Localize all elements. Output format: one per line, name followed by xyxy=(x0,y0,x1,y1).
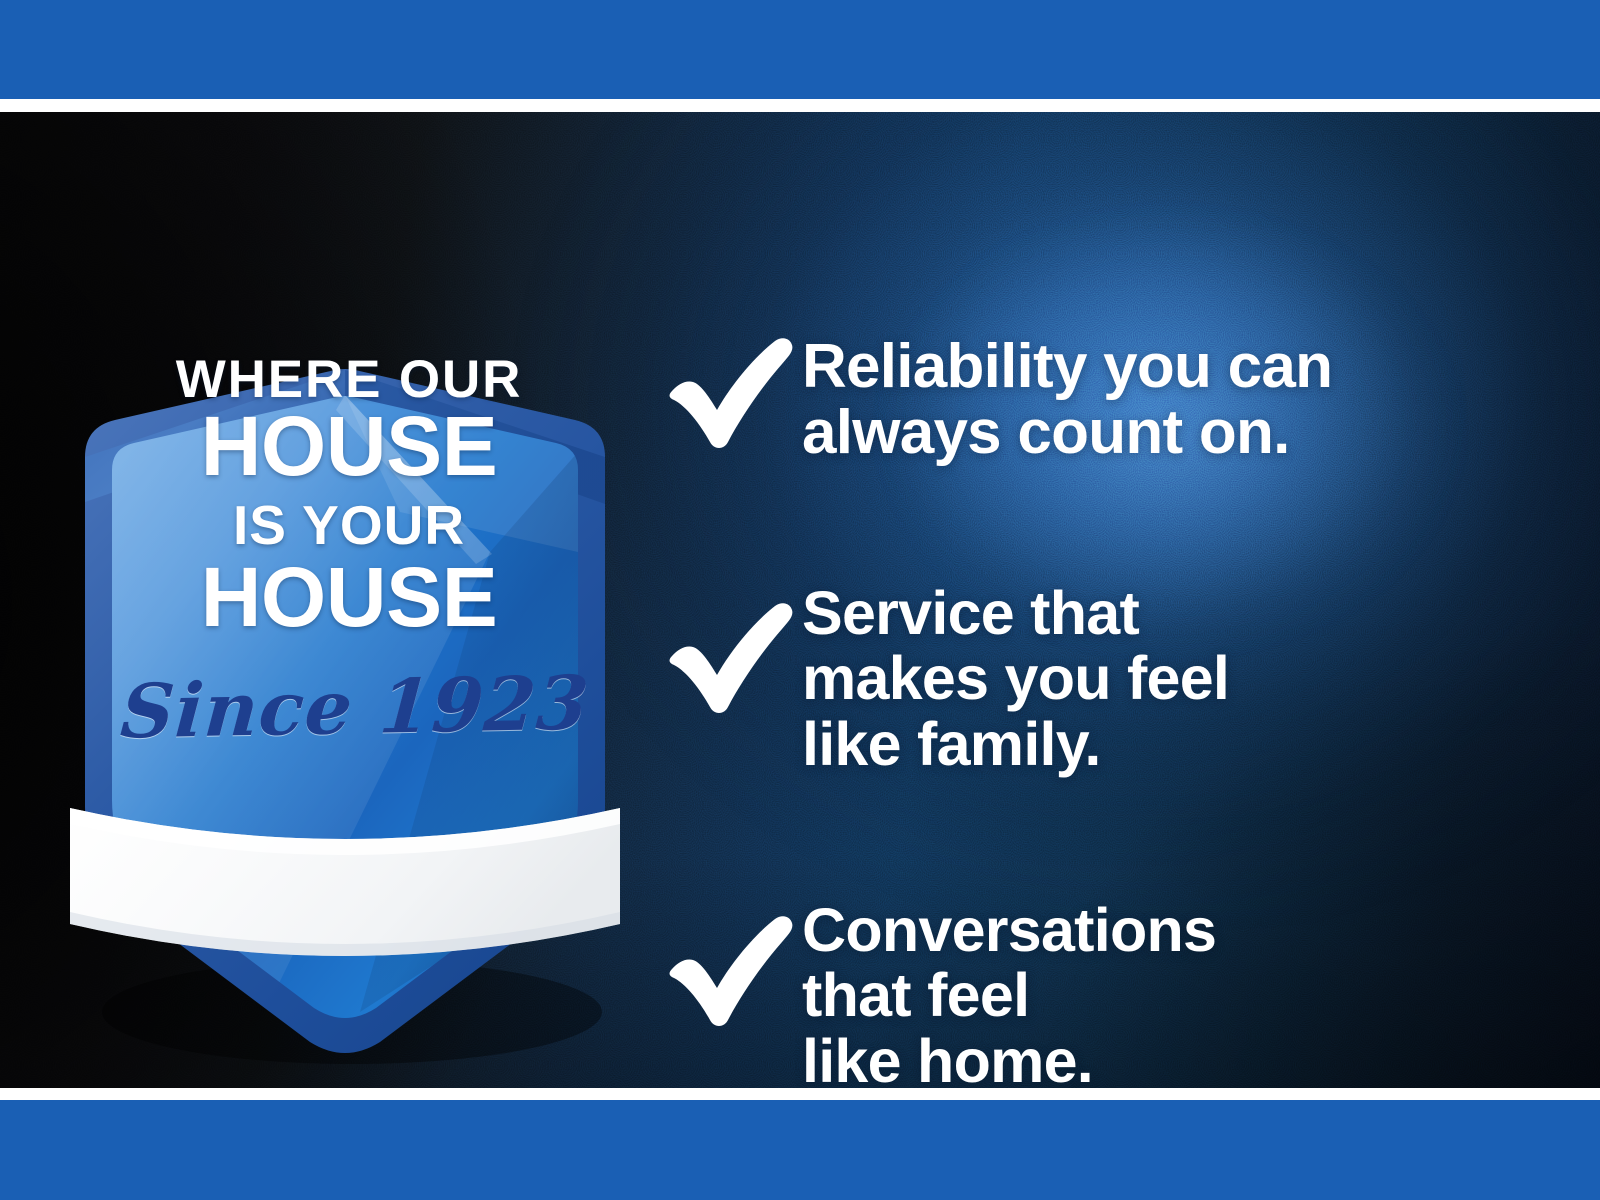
checkmark-icon xyxy=(660,597,802,715)
bottom-brand-bar xyxy=(0,1100,1600,1200)
ribbon-banner xyxy=(68,786,622,970)
checkmark-icon xyxy=(660,332,802,450)
value-bullet: Reliability you can always count on. xyxy=(660,332,1540,467)
value-bullet: Service that makes you feel like family. xyxy=(660,579,1540,777)
graphic-canvas: Where Our House Is Your House Since 1923… xyxy=(0,112,1600,1088)
value-bullet-text: Service that makes you feel like family. xyxy=(802,579,1540,777)
bottom-white-rule xyxy=(0,1088,1600,1100)
value-bullet-text: Reliability you can always count on. xyxy=(802,332,1540,467)
value-bullet-text: Conversations that feel like home. xyxy=(802,896,1540,1088)
top-white-rule xyxy=(0,99,1600,112)
promo-graphic: Where Our House Is Your House Since 1923… xyxy=(0,0,1600,1200)
shield-badge: Where Our House Is Your House Since 1923 xyxy=(60,252,630,1062)
top-brand-bar xyxy=(0,0,1600,99)
value-bullet: Conversations that feel like home. xyxy=(660,896,1540,1088)
value-bullet-list: Reliability you can always count on. Ser… xyxy=(660,224,1540,1088)
shield-badge-icon xyxy=(60,252,630,1062)
checkmark-icon xyxy=(660,910,802,1028)
